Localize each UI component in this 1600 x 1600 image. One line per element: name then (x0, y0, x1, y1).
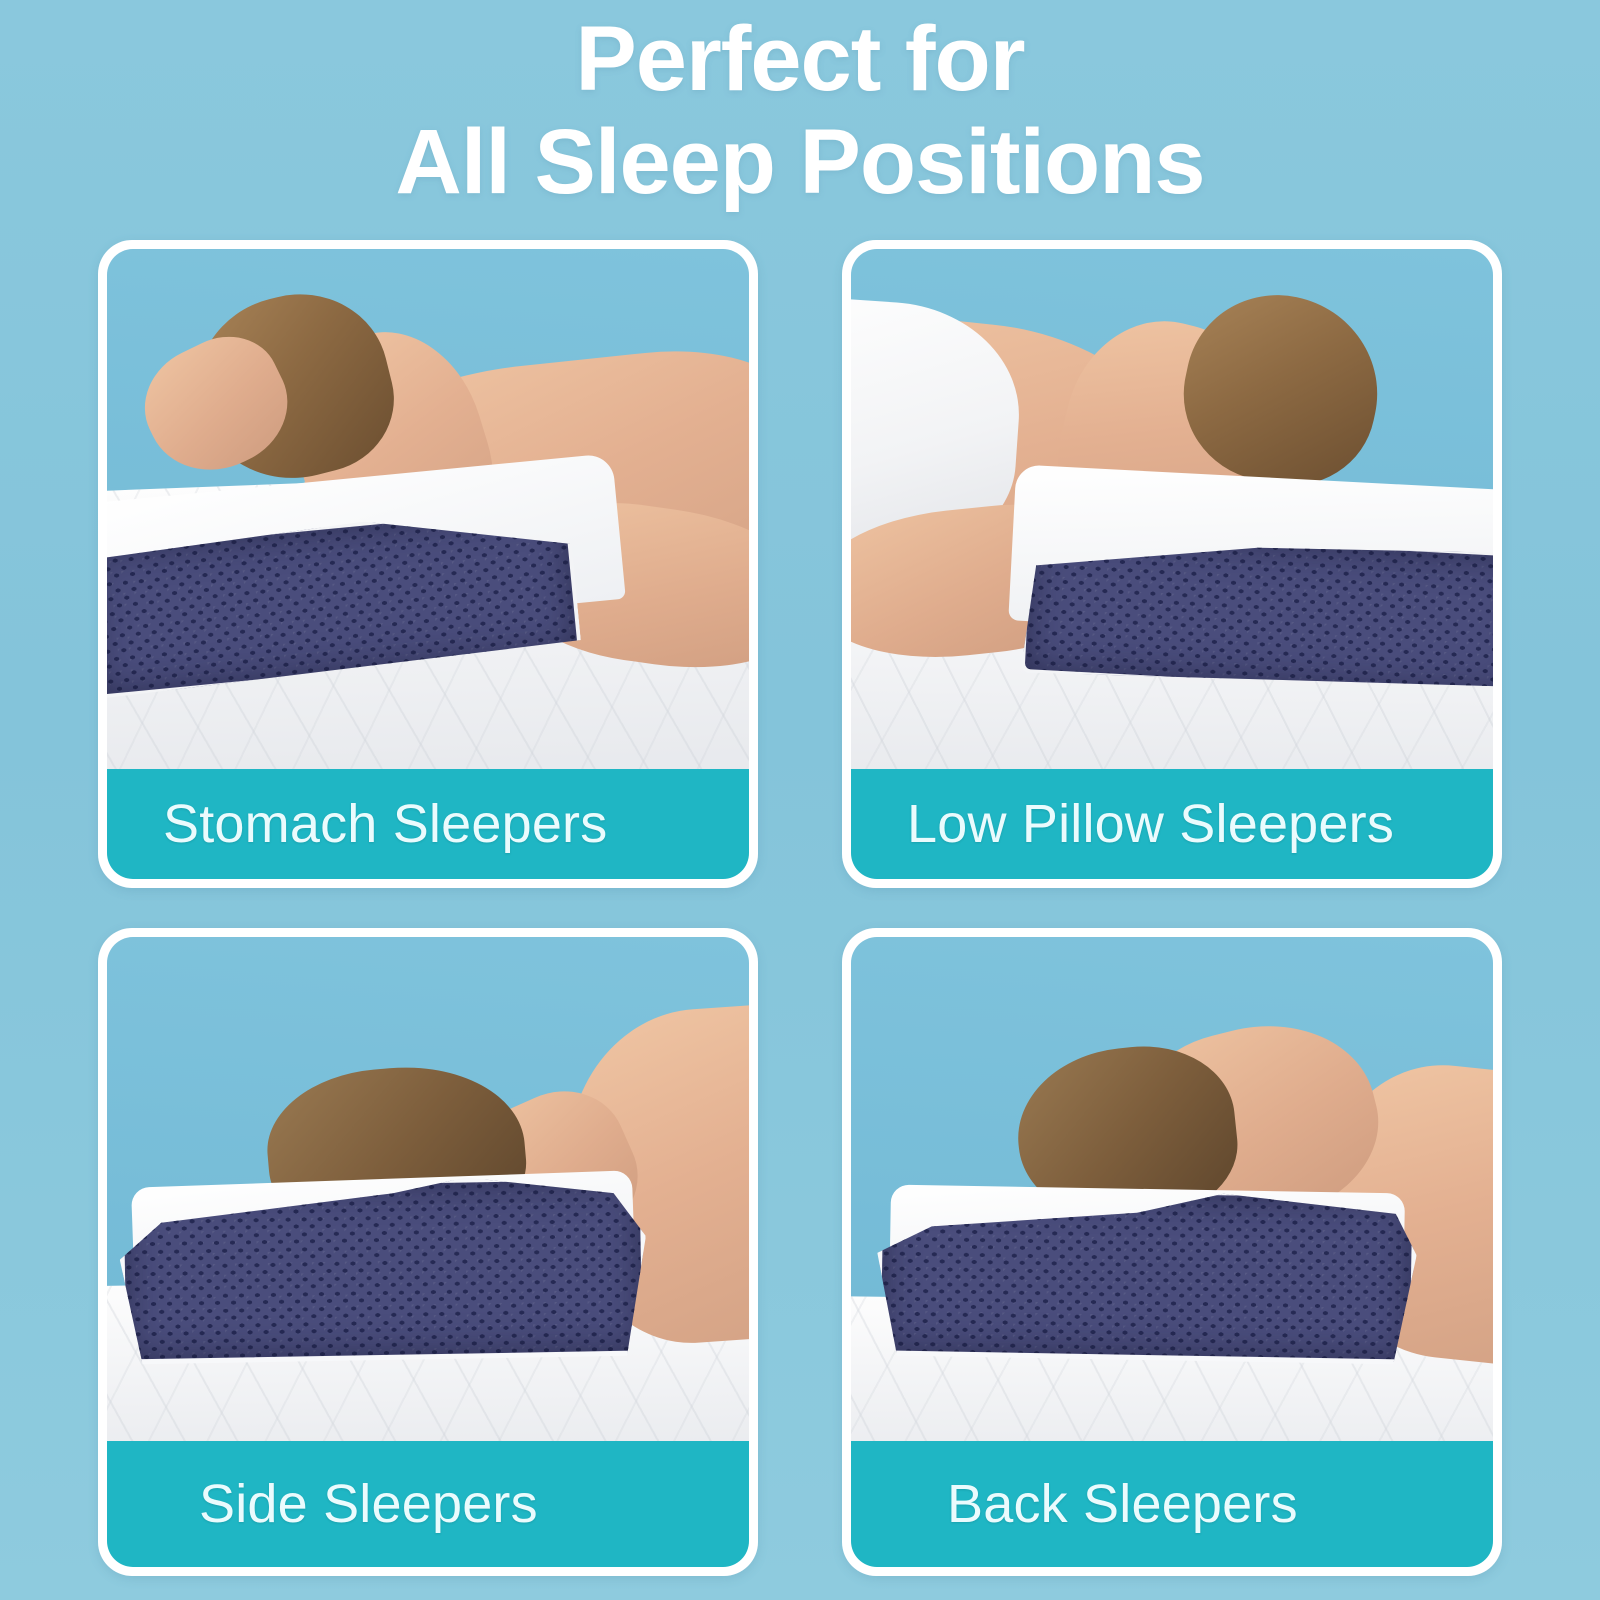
side-sleeper-photo (107, 937, 749, 1441)
sleep-position-card-back[interactable]: Back Sleepers (842, 928, 1502, 1576)
card-caption-low-pillow: Low Pillow Sleepers (851, 769, 1493, 879)
card-inner: Side Sleepers (107, 937, 749, 1567)
card-inner: Back Sleepers (851, 937, 1493, 1567)
card-inner: Stomach Sleepers (107, 249, 749, 879)
page-title-line-2: All Sleep Positions (0, 111, 1600, 214)
card-inner: Low Pillow Sleepers (851, 249, 1493, 879)
sleep-position-card-stomach[interactable]: Stomach Sleepers (98, 240, 758, 888)
page-title-line-1: Perfect for (0, 8, 1600, 111)
back-sleeper-photo (851, 937, 1493, 1441)
page-title: Perfect for All Sleep Positions (0, 8, 1600, 214)
sleep-position-card-side[interactable]: Side Sleepers (98, 928, 758, 1576)
card-caption-stomach: Stomach Sleepers (107, 769, 749, 879)
card-caption-back: Back Sleepers (851, 1441, 1493, 1567)
low-pillow-sleeper-photo (851, 249, 1493, 769)
card-caption-side: Side Sleepers (107, 1441, 749, 1567)
sleep-position-grid: Stomach Sleepers Low Pillow Sleepers (98, 240, 1502, 1576)
sleep-position-card-low-pillow[interactable]: Low Pillow Sleepers (842, 240, 1502, 888)
stomach-sleeper-photo (107, 249, 749, 769)
